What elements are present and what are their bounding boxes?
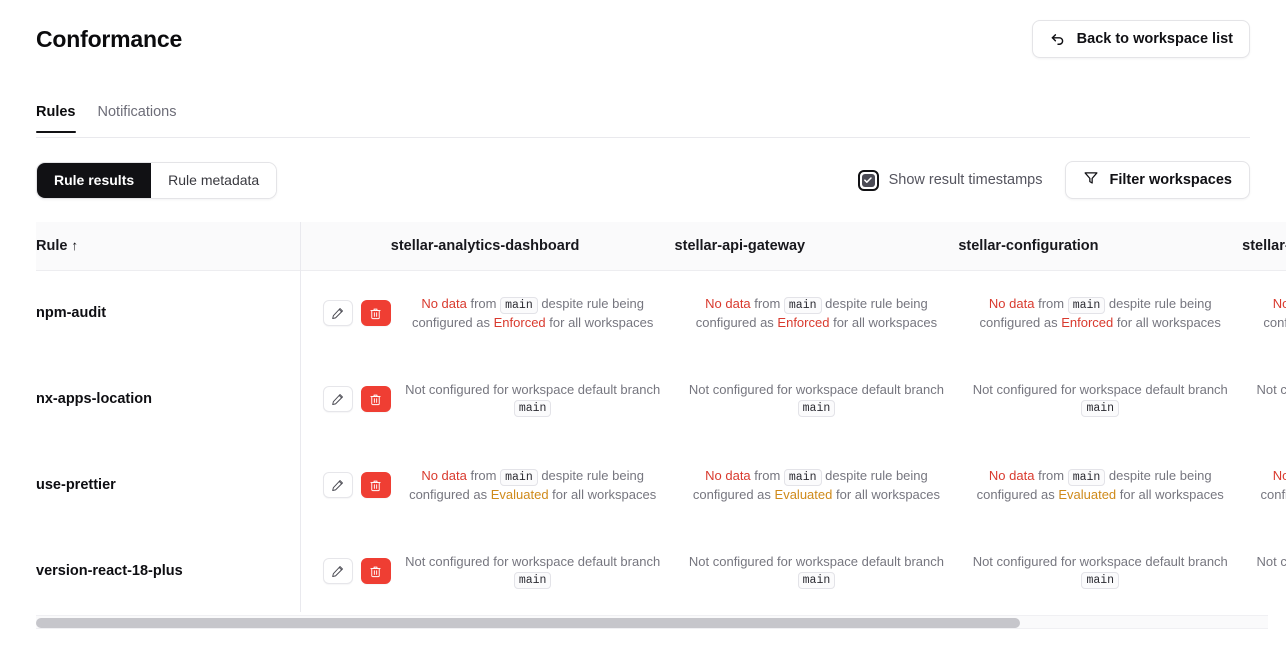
column-header-workspace[interactable]: stellar-api-gateway <box>675 222 959 270</box>
result-text: No data from main despite rule being con… <box>1242 295 1286 331</box>
page-header: Conformance Back to workspace list <box>0 0 1286 78</box>
result-text: Not configured for workspace default bra… <box>675 553 959 589</box>
result-cell: Not configured for workspace default bra… <box>675 356 959 442</box>
branch-badge: main <box>1081 400 1119 417</box>
result-text: No data from main despite rule being con… <box>391 467 675 503</box>
result-text: Not configured for workspace default bra… <box>1242 381 1286 417</box>
rule-cell: use-prettier <box>36 442 391 528</box>
result-cell: No data from main despite rule being con… <box>675 270 959 356</box>
filter-workspaces-button[interactable]: Filter workspaces <box>1065 161 1251 199</box>
rule-name: version-react-18-plus <box>36 563 183 579</box>
rule-cell: nx-apps-location <box>36 356 391 442</box>
tab-bar: Rules Notifications <box>0 104 1286 138</box>
result-text: No data from main despite rule being con… <box>958 467 1242 503</box>
funnel-icon <box>1083 170 1099 190</box>
result-cell: Not configured for workspace default bra… <box>958 356 1242 442</box>
result-cell: No data from main despite rule being con… <box>1242 270 1286 356</box>
result-status-label: No data <box>421 296 467 311</box>
column-header-workspace[interactable]: stellar-configuration <box>958 222 1242 270</box>
rule-name: nx-apps-location <box>36 391 152 407</box>
delete-rule-button[interactable] <box>361 472 391 498</box>
column-header-workspace[interactable]: stellar-design-system <box>1242 222 1286 270</box>
branch-badge: main <box>514 400 552 417</box>
back-arrow-icon <box>1049 31 1066 48</box>
result-status-label: No data <box>705 468 751 483</box>
result-cell: No data from main despite rule being con… <box>958 442 1242 528</box>
branch-badge: main <box>784 469 822 486</box>
branch-badge: main <box>1068 297 1106 314</box>
tab-rules[interactable]: Rules <box>36 104 76 133</box>
branch-badge: main <box>798 572 836 589</box>
conformance-table: Rule↑ stellar-analytics-dashboard stella… <box>36 222 1286 612</box>
horizontal-scrollbar-thumb[interactable] <box>36 618 1020 628</box>
rule-actions <box>323 386 391 412</box>
segment-rule-metadata[interactable]: Rule metadata <box>151 163 276 198</box>
show-result-timestamps-label: Show result timestamps <box>889 172 1043 188</box>
delete-icon <box>369 307 382 320</box>
page-title: Conformance <box>36 26 182 53</box>
conformance-page: Conformance Back to workspace list Rules… <box>0 0 1286 667</box>
edit-rule-button[interactable] <box>323 386 353 412</box>
table-header-row: Rule↑ stellar-analytics-dashboard stella… <box>36 222 1286 270</box>
rule-name: npm-audit <box>36 305 106 321</box>
delete-rule-button[interactable] <box>361 558 391 584</box>
table-row: npm-auditNo data from main despite rule … <box>36 270 1286 356</box>
column-header-rule-label: Rule <box>36 238 67 254</box>
rule-mode-label: Evaluated <box>775 487 833 502</box>
view-mode-segmented-control: Rule results Rule metadata <box>36 162 277 199</box>
result-cell: Not configured for workspace default bra… <box>391 528 675 612</box>
result-cell: Not configured for workspace default bra… <box>1242 356 1286 442</box>
delete-icon <box>369 565 382 578</box>
delete-rule-button[interactable] <box>361 300 391 326</box>
result-cell: No data from main despite rule being con… <box>1242 442 1286 528</box>
table-row: version-react-18-plusNot configured for … <box>36 528 1286 612</box>
delete-icon <box>369 393 382 406</box>
result-text: Not configured for workspace default bra… <box>391 381 675 417</box>
rule-actions <box>323 558 391 584</box>
edit-rule-button[interactable] <box>323 472 353 498</box>
result-status-label: No data <box>989 468 1035 483</box>
rule-mode-label: Enforced <box>777 315 829 330</box>
show-result-timestamps-checkbox[interactable]: Show result timestamps <box>858 170 1043 191</box>
result-text: Not configured for workspace default bra… <box>1242 553 1286 589</box>
result-cell: Not configured for workspace default bra… <box>1242 528 1286 612</box>
edit-icon <box>331 307 344 320</box>
result-cell: Not configured for workspace default bra… <box>675 528 959 612</box>
result-cell: No data from main despite rule being con… <box>958 270 1242 356</box>
result-cell: No data from main despite rule being con… <box>675 442 959 528</box>
tab-notifications[interactable]: Notifications <box>98 104 177 133</box>
table-body: npm-auditNo data from main despite rule … <box>36 270 1286 612</box>
result-status-label: No data <box>989 296 1035 311</box>
horizontal-scrollbar-track[interactable] <box>36 615 1268 629</box>
edit-rule-button[interactable] <box>323 300 353 326</box>
delete-rule-button[interactable] <box>361 386 391 412</box>
branch-badge: main <box>514 572 552 589</box>
result-status-label: No data <box>1273 296 1286 311</box>
checkbox-focus-ring <box>858 170 879 191</box>
rule-cell: npm-audit <box>36 270 391 356</box>
sticky-column-divider <box>300 222 301 612</box>
result-text: No data from main despite rule being con… <box>675 295 959 331</box>
result-text: No data from main despite rule being con… <box>391 295 675 331</box>
rule-mode-label: Evaluated <box>491 487 549 502</box>
delete-icon <box>369 479 382 492</box>
branch-badge: main <box>1068 469 1106 486</box>
conformance-table-scroll-area[interactable]: Rule↑ stellar-analytics-dashboard stella… <box>36 222 1286 612</box>
rule-mode-label: Enforced <box>494 315 546 330</box>
result-text: No data from main despite rule being con… <box>958 295 1242 331</box>
toolbar: Rule results Rule metadata Show result t… <box>0 160 1286 200</box>
tab-bar-divider <box>36 137 1250 138</box>
rule-mode-label: Enforced <box>1061 315 1113 330</box>
branch-badge: main <box>500 469 538 486</box>
edit-icon <box>331 393 344 406</box>
rule-actions <box>323 472 391 498</box>
rule-actions <box>323 300 391 326</box>
result-status-label: No data <box>705 296 751 311</box>
branch-badge: main <box>1081 572 1119 589</box>
rule-name: use-prettier <box>36 477 116 493</box>
table-header: Rule↑ stellar-analytics-dashboard stella… <box>36 222 1286 270</box>
back-to-workspace-list-button[interactable]: Back to workspace list <box>1032 20 1250 58</box>
result-text: Not configured for workspace default bra… <box>391 553 675 589</box>
result-text: No data from main despite rule being con… <box>1242 467 1286 503</box>
result-text: Not configured for workspace default bra… <box>675 381 959 417</box>
column-header-rule[interactable]: Rule↑ <box>36 222 391 270</box>
segment-rule-results[interactable]: Rule results <box>37 163 151 198</box>
table-row: use-prettierNo data from main despite ru… <box>36 442 1286 528</box>
toolbar-right-group: Show result timestamps Filter workspaces <box>858 161 1250 199</box>
result-cell: Not configured for workspace default bra… <box>391 356 675 442</box>
result-text: No data from main despite rule being con… <box>675 467 959 503</box>
result-text: Not configured for workspace default bra… <box>958 553 1242 589</box>
result-cell: No data from main despite rule being con… <box>391 442 675 528</box>
result-cell: No data from main despite rule being con… <box>391 270 675 356</box>
edit-icon <box>331 565 344 578</box>
filter-workspaces-label: Filter workspaces <box>1110 172 1233 188</box>
edit-icon <box>331 479 344 492</box>
result-text: Not configured for workspace default bra… <box>958 381 1242 417</box>
branch-badge: main <box>500 297 538 314</box>
result-status-label: No data <box>421 468 467 483</box>
checkbox-checked-icon <box>862 174 875 187</box>
result-status-label: No data <box>1273 468 1286 483</box>
back-button-label: Back to workspace list <box>1077 31 1233 47</box>
rule-mode-label: Evaluated <box>1058 487 1116 502</box>
rule-cell: version-react-18-plus <box>36 528 391 612</box>
sort-ascending-icon: ↑ <box>71 238 78 253</box>
result-cell: Not configured for workspace default bra… <box>958 528 1242 612</box>
edit-rule-button[interactable] <box>323 558 353 584</box>
branch-badge: main <box>798 400 836 417</box>
branch-badge: main <box>784 297 822 314</box>
table-row: nx-apps-locationNot configured for works… <box>36 356 1286 442</box>
column-header-workspace[interactable]: stellar-analytics-dashboard <box>391 222 675 270</box>
